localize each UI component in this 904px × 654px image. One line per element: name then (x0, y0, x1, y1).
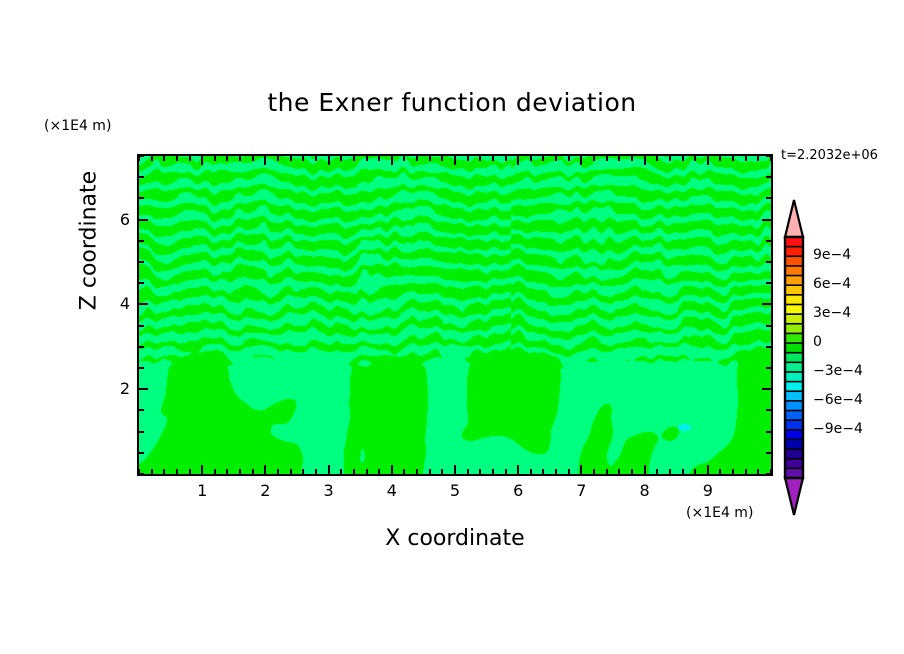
tick-mark (226, 156, 228, 161)
tick-mark (429, 469, 431, 474)
x-tick-label: 4 (377, 481, 407, 500)
tick-mark (593, 469, 595, 474)
tick-mark (606, 469, 608, 474)
tick-mark (290, 469, 292, 474)
tick-mark (542, 156, 544, 161)
tick-mark (517, 156, 519, 165)
tick-mark (189, 469, 191, 474)
plot-area (137, 154, 773, 476)
tick-mark (766, 155, 771, 157)
colorbar-tick-label: −9e−4 (813, 421, 863, 437)
x-tick-label: 1 (187, 481, 217, 500)
tick-mark (353, 469, 355, 474)
tick-mark (340, 469, 342, 474)
colorbar-tick-label: 9e−4 (813, 247, 851, 263)
tick-mark (631, 469, 633, 474)
colorbar-tick-label: 6e−4 (813, 276, 851, 292)
colorbar-tick-label: 3e−4 (813, 305, 851, 321)
tick-mark (766, 346, 771, 348)
tick-mark (252, 469, 254, 474)
tick-mark (707, 465, 709, 474)
tick-mark (139, 261, 144, 263)
tick-mark (403, 156, 405, 161)
tick-mark (163, 156, 165, 161)
tick-mark (568, 156, 570, 161)
tick-mark (302, 156, 304, 161)
tick-mark (315, 156, 317, 161)
tick-mark (290, 156, 292, 161)
tick-mark (479, 156, 481, 161)
x-tick-label: 8 (630, 481, 660, 500)
tick-mark (631, 156, 633, 161)
tick-mark (555, 156, 557, 161)
tick-mark (656, 469, 658, 474)
y-tick-label: 6 (100, 210, 130, 229)
tick-mark (328, 465, 330, 474)
tick-mark (378, 469, 380, 474)
tick-mark (766, 367, 771, 369)
tick-mark (366, 469, 368, 474)
tick-mark (139, 367, 144, 369)
tick-mark (593, 156, 595, 161)
tick-mark (766, 431, 771, 433)
x-tick-label: 2 (250, 481, 280, 500)
tick-mark (416, 469, 418, 474)
tick-mark (239, 469, 241, 474)
tick-mark (757, 156, 759, 161)
tick-mark (340, 156, 342, 161)
tick-mark (467, 469, 469, 474)
tick-mark (766, 282, 771, 284)
tick-mark (766, 409, 771, 411)
tick-mark (757, 469, 759, 474)
tick-mark (745, 156, 747, 161)
tick-mark (139, 409, 144, 411)
x-tick-label: 9 (693, 481, 723, 500)
tick-mark (719, 469, 721, 474)
x-tick-label: 7 (566, 481, 596, 500)
tick-mark (505, 469, 507, 474)
contour-field (139, 156, 771, 474)
tick-mark (530, 469, 532, 474)
tick-mark (454, 156, 456, 165)
tick-mark (264, 156, 266, 165)
tick-mark (644, 465, 646, 474)
tick-mark (555, 469, 557, 474)
tick-mark (328, 156, 330, 165)
tick-mark (766, 325, 771, 327)
tick-mark (353, 156, 355, 161)
tick-mark (366, 156, 368, 161)
tick-mark (139, 431, 144, 433)
tick-mark (201, 465, 203, 474)
tick-mark (139, 240, 144, 242)
tick-mark (762, 388, 771, 390)
tick-mark (139, 176, 144, 178)
tick-mark (139, 325, 144, 327)
tick-mark (441, 469, 443, 474)
x-axis-label: X coordinate (137, 526, 773, 551)
x-tick-label: 3 (314, 481, 344, 500)
tick-mark (505, 156, 507, 161)
tick-mark (707, 156, 709, 165)
tick-mark (766, 240, 771, 242)
tick-mark (139, 346, 144, 348)
tick-mark (189, 156, 191, 161)
tick-mark (530, 156, 532, 161)
tick-mark (479, 469, 481, 474)
x-tick-label: 6 (503, 481, 533, 500)
tick-mark (467, 156, 469, 161)
tick-mark (732, 469, 734, 474)
tick-mark (682, 156, 684, 161)
tick-mark (766, 197, 771, 199)
tick-mark (580, 156, 582, 165)
colorbar (783, 199, 805, 516)
tick-mark (669, 156, 671, 161)
z-axis-unit-label: (×1E4 m) (44, 118, 111, 134)
tick-mark (568, 469, 570, 474)
tick-mark (214, 469, 216, 474)
tick-mark (762, 303, 771, 305)
tick-mark (766, 176, 771, 178)
tick-mark (315, 469, 317, 474)
tick-mark (264, 465, 266, 474)
tick-mark (644, 156, 646, 165)
tick-mark (139, 452, 144, 454)
tick-mark (694, 156, 696, 161)
tick-mark (139, 219, 148, 221)
tick-mark (139, 473, 144, 475)
tick-mark (732, 156, 734, 161)
tick-mark (378, 156, 380, 161)
tick-mark (201, 156, 203, 165)
tick-mark (277, 469, 279, 474)
tick-mark (694, 469, 696, 474)
tick-mark (151, 469, 153, 474)
tick-mark (403, 469, 405, 474)
tick-mark (682, 469, 684, 474)
y-axis-label: Z coordinate (77, 146, 102, 336)
tick-mark (277, 156, 279, 161)
tick-mark (416, 156, 418, 161)
colorbar-tick-label: −3e−4 (813, 363, 863, 379)
colorbar-tick-label: 0 (813, 334, 822, 350)
tick-mark (766, 261, 771, 263)
colorbar-gradient (783, 199, 805, 516)
tick-mark (719, 156, 721, 161)
tick-mark (163, 469, 165, 474)
tick-mark (176, 156, 178, 161)
tick-mark (766, 452, 771, 454)
tick-mark (669, 469, 671, 474)
tick-mark (441, 156, 443, 161)
figure-canvas: the Exner function deviation (×1E4 m) t=… (0, 0, 904, 654)
x-tick-label: 5 (440, 481, 470, 500)
tick-mark (391, 156, 393, 165)
tick-mark (492, 469, 494, 474)
tick-mark (391, 465, 393, 474)
tick-mark (226, 469, 228, 474)
tick-mark (139, 388, 148, 390)
tick-mark (656, 156, 658, 161)
tick-mark (606, 156, 608, 161)
tick-mark (176, 469, 178, 474)
tick-mark (745, 469, 747, 474)
tick-mark (214, 156, 216, 161)
tick-mark (762, 219, 771, 221)
tick-mark (618, 469, 620, 474)
tick-mark (542, 469, 544, 474)
tick-mark (239, 156, 241, 161)
tick-mark (151, 156, 153, 161)
tick-mark (580, 465, 582, 474)
tick-mark (517, 465, 519, 474)
y-tick-label: 2 (100, 379, 130, 398)
tick-mark (139, 155, 144, 157)
tick-mark (139, 303, 148, 305)
tick-mark (492, 156, 494, 161)
page-title: the Exner function deviation (0, 88, 904, 117)
tick-mark (766, 473, 771, 475)
colorbar-tick-label: −6e−4 (813, 392, 863, 408)
tick-mark (252, 156, 254, 161)
y-tick-label: 4 (100, 294, 130, 313)
x-axis-unit-label: (×1E4 m) (686, 505, 753, 521)
tick-mark (139, 197, 144, 199)
tick-mark (302, 469, 304, 474)
tick-mark (139, 282, 144, 284)
tick-mark (618, 156, 620, 161)
tick-mark (429, 156, 431, 161)
tick-mark (454, 465, 456, 474)
timestamp-annotation: t=2.2032e+06 (781, 148, 878, 163)
